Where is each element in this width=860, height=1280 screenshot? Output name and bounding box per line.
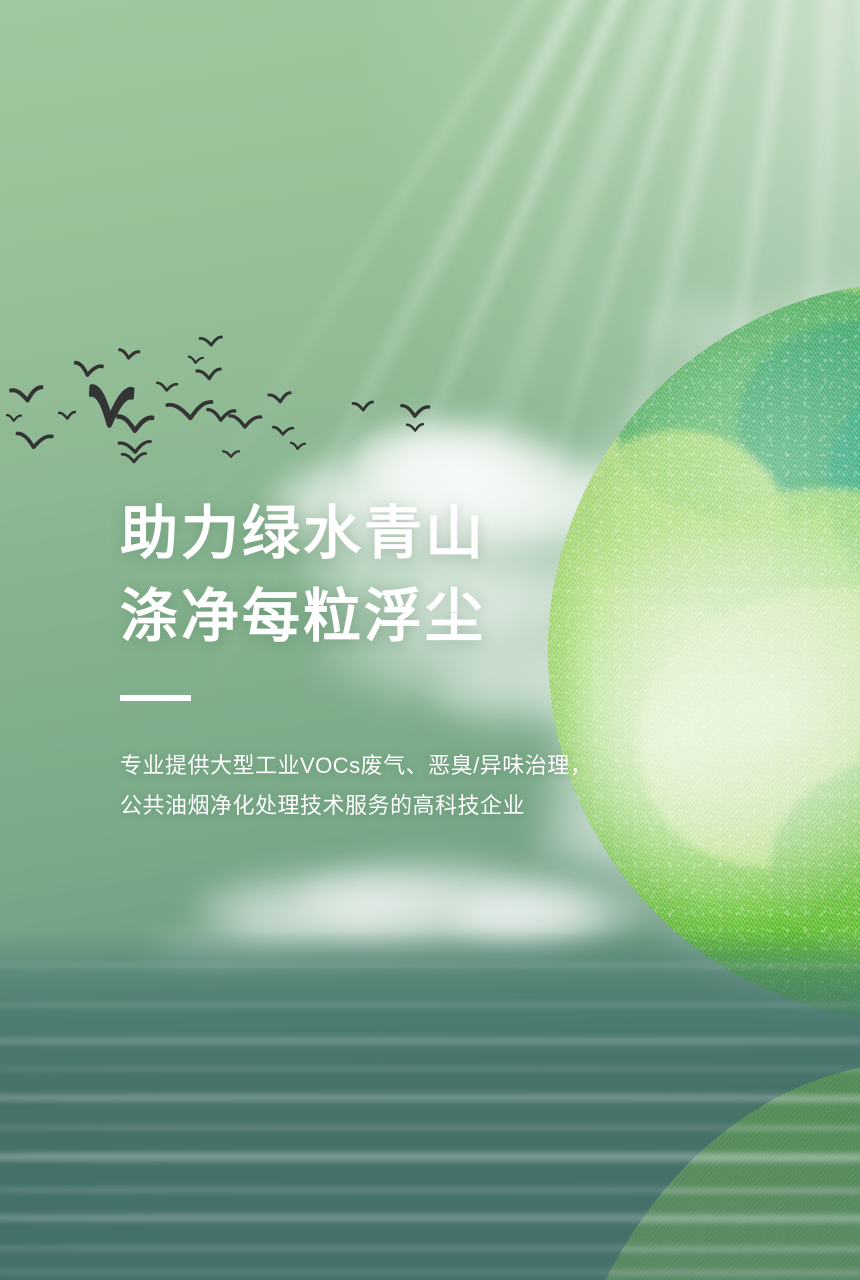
reflection-streak [548,1092,860,1106]
reflection-streak [548,1268,860,1278]
water-wave [0,962,860,969]
promo-banner: 助力绿水青山 涤净每粒浮尘 专业提供大型工业VOCs废气、恶臭/异味治理， 公共… [0,0,860,1280]
globe-reflection [548,1062,860,1280]
reflection-streak [548,1212,860,1226]
reflection-streak [548,1150,860,1166]
banner-copy: 助力绿水青山 涤净每粒浮尘 专业提供大型工业VOCs废气、恶臭/异味治理， 公共… [120,492,680,826]
reflection-streak [548,1124,860,1133]
reflection-streak [548,1066,860,1074]
headline-line-2: 涤净每粒浮尘 [120,575,680,658]
reflection-streak [548,1186,860,1196]
subtitle-line-1: 专业提供大型工业VOCs废气、恶臭/异味治理， [120,746,680,786]
reflection-streak [548,1244,860,1255]
water-wave [0,1002,860,1008]
divider [120,695,191,701]
headline-line-1: 助力绿水青山 [120,492,680,575]
subtitle-line-2: 公共油烟净化处理技术服务的高科技企业 [120,786,680,826]
water-wave [0,1036,860,1046]
